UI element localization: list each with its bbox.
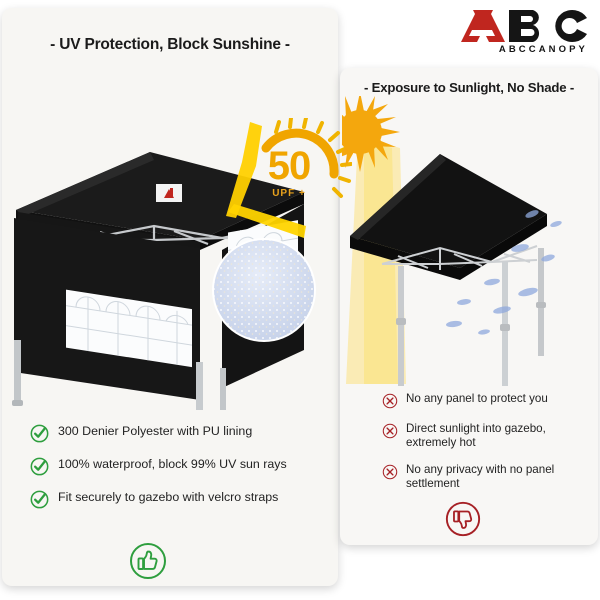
green-check-icon: [30, 457, 49, 476]
thumbs-down-icon: [444, 500, 482, 538]
list-item-label: Direct sunlight into gazebo, extremely h…: [406, 422, 592, 450]
list-item: No any panel to protect you: [382, 392, 592, 409]
list-item-label: Fit securely to gazebo with velcro strap…: [58, 490, 278, 506]
left-panel-title: - UV Protection, Block Sunshine -: [2, 36, 338, 54]
red-x-icon: [382, 464, 398, 480]
red-x-icon: [382, 393, 398, 409]
green-check-icon: [30, 490, 49, 509]
left-feature-list: 300 Denier Polyester with PU lining 100%…: [30, 424, 320, 523]
thumbs-up-icon: [128, 541, 168, 581]
upf-value: 50: [256, 146, 322, 186]
upf-50-badge: 50 UPF +: [248, 118, 352, 218]
canopy-logo-tag: [156, 184, 182, 202]
list-item: No any privacy with no panel settlement: [382, 463, 592, 491]
canopy-no-panels-illustration: [342, 96, 596, 386]
brand-logo[interactable]: ABCCANOPY: [447, 8, 592, 60]
list-item: Fit securely to gazebo with velcro strap…: [30, 490, 320, 509]
red-x-icon: [382, 423, 398, 439]
brand-wordmark: ABCCANOPY: [447, 44, 592, 55]
right-drawback-list: No any panel to protect you Direct sunli…: [382, 392, 592, 505]
upf-label: UPF +: [256, 188, 322, 199]
list-item: Direct sunlight into gazebo, extremely h…: [382, 422, 592, 450]
green-check-icon: [30, 424, 49, 443]
fabric-magnifier-circle: [212, 238, 316, 342]
abc-logo-mark: [447, 8, 592, 44]
list-item-label: 100% waterproof, block 99% UV sun rays: [58, 457, 287, 473]
infographic-canvas: 50 UPF +: [0, 0, 600, 600]
list-item-label: No any privacy with no panel settlement: [406, 463, 592, 491]
list-item-label: No any panel to protect you: [406, 392, 548, 406]
list-item: 300 Denier Polyester with PU lining: [30, 424, 320, 443]
right-panel-title: - Exposure to Sunlight, No Shade -: [340, 80, 598, 95]
list-item-label: 300 Denier Polyester with PU lining: [58, 424, 252, 440]
list-item: 100% waterproof, block 99% UV sun rays: [30, 457, 320, 476]
